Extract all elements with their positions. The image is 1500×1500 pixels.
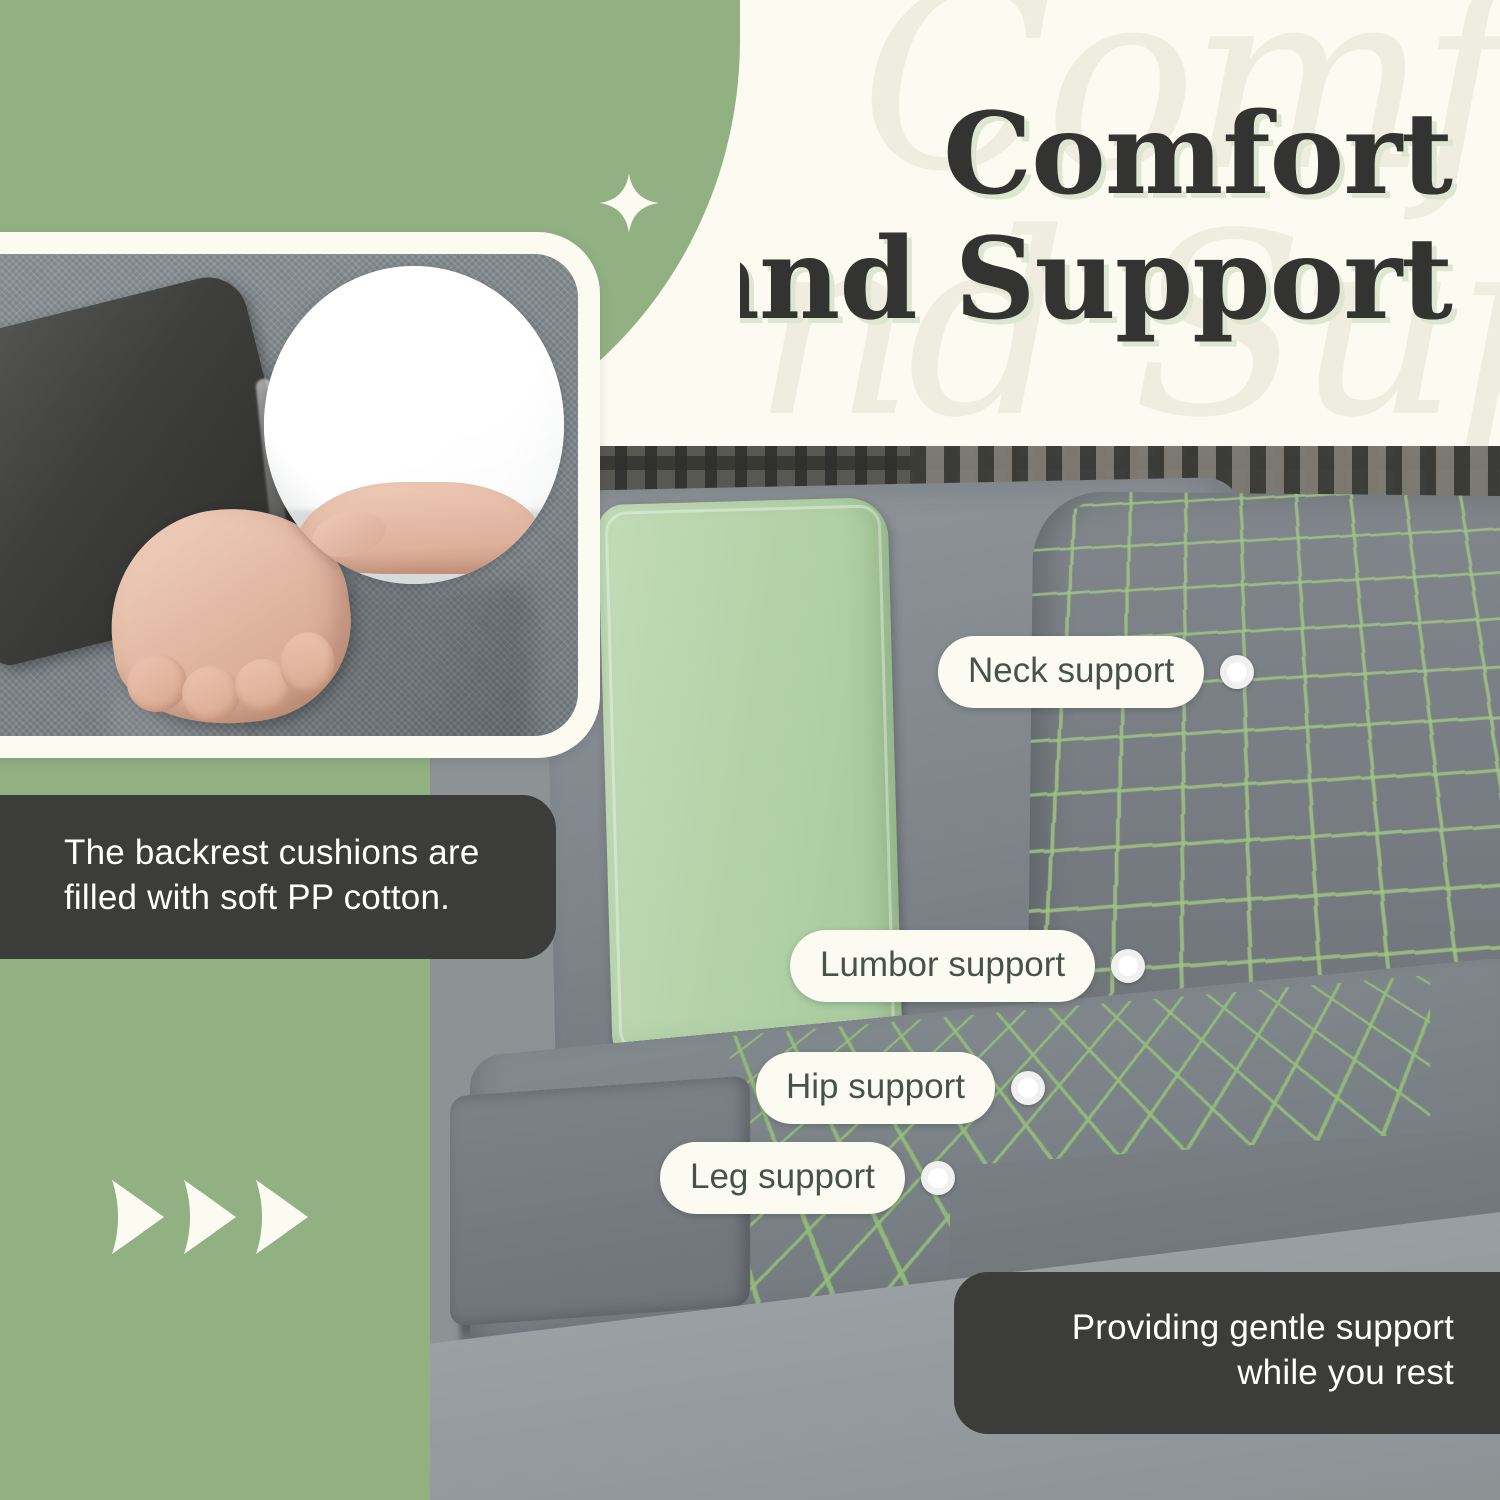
caption-gentle-support: Providing gentle support while you rest <box>954 1272 1500 1434</box>
support-point-neck: Neck support <box>938 636 1254 708</box>
pp-cotton-fill <box>264 266 564 510</box>
point-marker-icon <box>1220 655 1254 689</box>
title-line-1: Comfort <box>740 92 1452 217</box>
support-point-leg: Leg support <box>660 1142 955 1214</box>
caption-backrest-filling: The backrest cushions are filled with so… <box>0 795 556 959</box>
chevron-right-icon <box>108 1178 166 1256</box>
product-infographic: Comfort and Support Comfort and Support <box>0 0 1500 1500</box>
chevron-right-icon <box>252 1178 310 1256</box>
title-line-2: and Support <box>740 217 1452 342</box>
title-panel: Comfort and Support Comfort and Support <box>740 0 1500 446</box>
point-marker-icon <box>1111 949 1145 983</box>
sparkle-icon <box>598 172 660 234</box>
pinch-test-photo-card <box>0 232 600 758</box>
support-label-lumbor: Lumbor support <box>790 930 1095 1002</box>
pinch-test-photo <box>0 254 578 736</box>
support-label-hip: Hip support <box>756 1052 995 1124</box>
support-label-leg: Leg support <box>660 1142 905 1214</box>
support-point-hip: Hip support <box>756 1052 1045 1124</box>
pp-cotton-inset <box>264 266 564 584</box>
caption-gentle-support-line-1: Providing gentle support <box>994 1306 1454 1351</box>
point-marker-icon <box>921 1161 955 1195</box>
support-label-neck: Neck support <box>938 636 1204 708</box>
page-title: Comfort and Support <box>740 92 1452 343</box>
chevron-right-icon <box>180 1178 238 1256</box>
arrow-group <box>108 1178 310 1256</box>
support-point-lumbor: Lumbor support <box>790 930 1145 1002</box>
caption-gentle-support-line-2: while you rest <box>994 1351 1454 1396</box>
point-marker-icon <box>1011 1071 1045 1105</box>
